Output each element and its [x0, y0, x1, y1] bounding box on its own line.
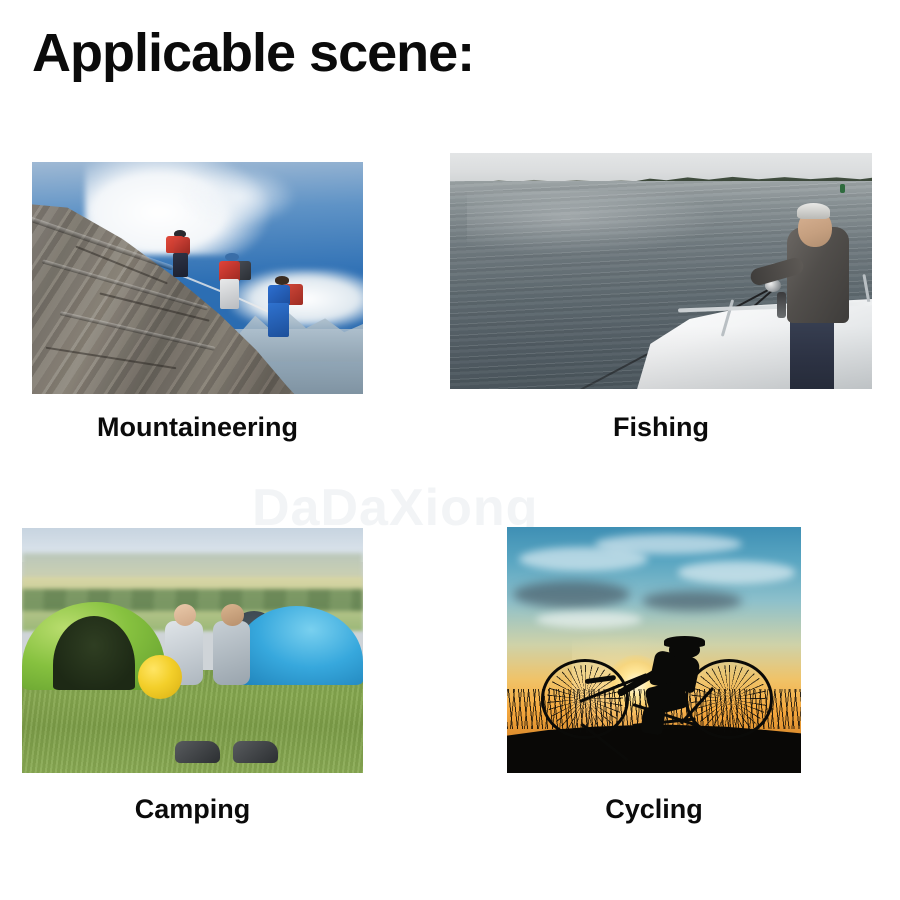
scene-photo-cycling: [507, 527, 801, 773]
rod-holder: [777, 292, 786, 318]
background-camper-head: [174, 604, 196, 626]
background-camper-head: [221, 604, 243, 626]
climber-legs: [173, 253, 188, 277]
scene-photo-mountaineering: [32, 162, 363, 394]
hiking-shoe: [175, 741, 219, 763]
rider-shin: [641, 707, 666, 736]
scene-label-mountaineering: Mountaineering: [32, 412, 363, 443]
climber-legs: [268, 303, 289, 337]
rider-helmet: [664, 636, 705, 647]
climber-legs: [220, 279, 238, 309]
hiking-shoe: [233, 741, 277, 763]
page-title: Applicable scene:: [32, 22, 474, 84]
scene-label-fishing: Fishing: [450, 412, 872, 443]
cloud-shape: [678, 561, 796, 583]
climber-figure: [214, 255, 254, 311]
scene-label-cycling: Cycling: [507, 794, 801, 825]
scene-label-camping: Camping: [22, 794, 363, 825]
channel-buoy: [840, 184, 845, 193]
dark-cloud: [642, 591, 742, 611]
sky-backdrop: [450, 153, 872, 181]
cloud-shape: [595, 534, 742, 554]
climber-figure: [164, 232, 197, 278]
scene-photo-camping: [22, 528, 363, 773]
scene-photo-fishing: [450, 153, 872, 389]
climber-figure: [264, 278, 307, 338]
water-glare: [467, 191, 720, 257]
background-camper: [213, 621, 251, 685]
climber-helmet: [225, 253, 239, 261]
angler-hair: [797, 203, 830, 219]
cyclist-silhouette: [536, 623, 777, 741]
cloud-shape: [178, 167, 297, 227]
